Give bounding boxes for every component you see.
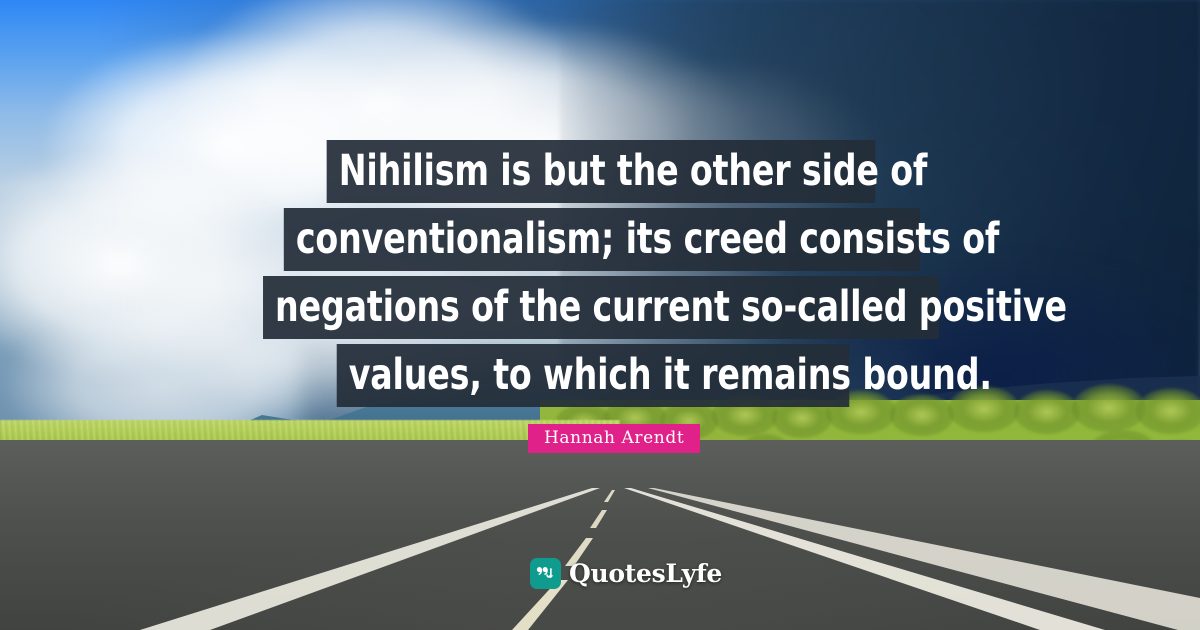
quote-line-2: conventionalism; its creed consists of <box>284 208 920 271</box>
quote-line-4: values, to which it remains bound. <box>337 344 850 407</box>
highway-road <box>0 430 1200 630</box>
road-markings <box>0 430 1200 630</box>
quote-image-canvas: Nihilism is but the other side of conven… <box>0 0 1200 630</box>
logo-wordmark: QuotesLyfe <box>569 559 722 588</box>
quote-smiley-icon <box>530 558 561 589</box>
quote-line-1: Nihilism is but the other side of <box>327 140 876 203</box>
quoteslyfe-logo[interactable]: QuotesLyfe <box>530 558 722 589</box>
quote-line-3: negations of the current so-called posit… <box>263 276 939 339</box>
author-badge: Hannah Arendt <box>528 424 700 453</box>
